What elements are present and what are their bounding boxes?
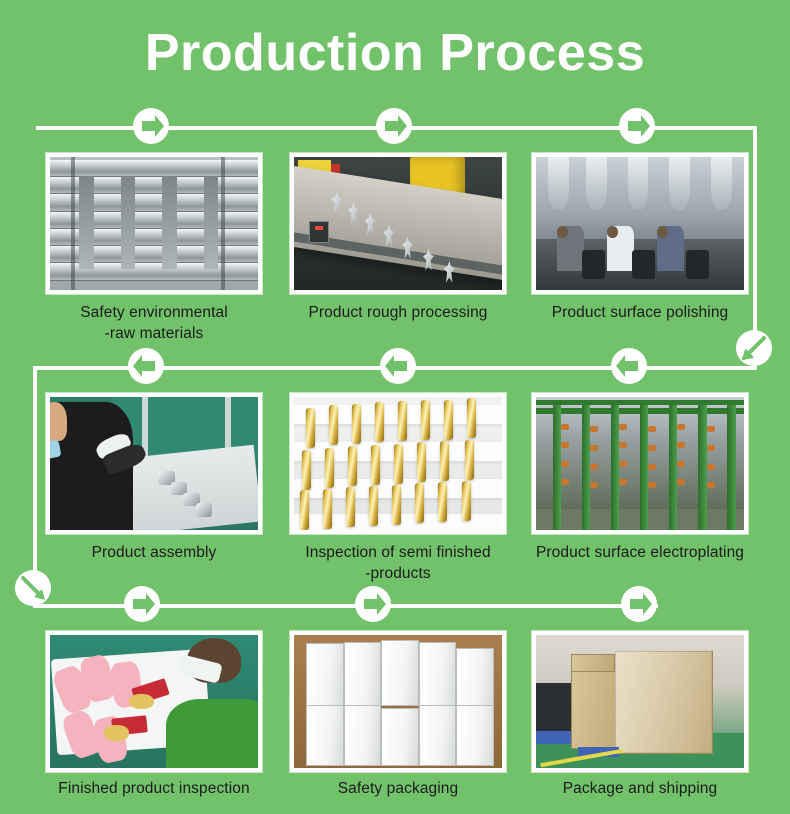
arrow-left-icon: [611, 348, 647, 384]
assembly-worker-photo: [50, 397, 258, 530]
row2-to-row3-vertical-line: [33, 366, 37, 588]
caption-line-1: Inspection of semi finished: [276, 542, 520, 563]
step-card-semi-finished-inspection[interactable]: [290, 393, 506, 534]
step-card-electroplating[interactable]: [532, 393, 748, 534]
step-card-product-assembly[interactable]: [46, 393, 262, 534]
production-process-infographic: Production Process: [0, 0, 790, 814]
step-caption-2: Product rough processing: [290, 302, 506, 323]
aluminium-ingots-photo: [50, 157, 258, 290]
step-caption-5: Inspection of semi finished -products: [276, 542, 520, 584]
caption-line-1: Product surface polishing: [532, 302, 748, 323]
arrow-right-icon: [621, 586, 657, 622]
caption-line-1: Product rough processing: [290, 302, 506, 323]
conveyor-rough-processing-photo: [294, 157, 502, 290]
step-card-finished-inspection[interactable]: [46, 631, 262, 772]
step-card-rough-processing[interactable]: [290, 153, 506, 294]
caption-line-1: Product assembly: [46, 542, 262, 563]
arrow-right-icon: [133, 108, 169, 144]
arrow-left-icon: [380, 348, 416, 384]
step-caption-1: Safety environmental -raw materials: [46, 302, 262, 344]
step-caption-8: Safety packaging: [290, 778, 506, 799]
arrow-right-icon: [619, 108, 655, 144]
caption-line-1: Finished product inspection: [38, 778, 270, 799]
step-card-surface-polishing[interactable]: [532, 153, 748, 294]
step-card-safety-packaging[interactable]: [290, 631, 506, 772]
arrow-left-icon: [128, 348, 164, 384]
caption-line-2: -products: [276, 563, 520, 584]
white-boxes-carton-photo: [294, 635, 502, 768]
caption-line-1: Package and shipping: [532, 778, 748, 799]
polishing-workshop-photo: [536, 157, 744, 290]
step-caption-3: Product surface polishing: [532, 302, 748, 323]
caption-line-1: Safety environmental: [46, 302, 262, 323]
arrow-right-icon: [355, 586, 391, 622]
arrow-diagonal-down-right-icon: [15, 570, 51, 606]
pallets-shipping-photo: [536, 635, 744, 768]
step-caption-4: Product assembly: [46, 542, 262, 563]
arrow-diagonal-down-left-icon: [736, 330, 772, 366]
caption-line-2: -raw materials: [46, 323, 262, 344]
step-caption-7: Finished product inspection: [38, 778, 270, 799]
gold-handles-inspection-photo: [294, 397, 502, 530]
caption-line-1: Product surface electroplating: [518, 542, 762, 563]
row1-to-row2-vertical-line: [753, 126, 757, 348]
arrow-right-icon: [376, 108, 412, 144]
page-title: Production Process: [0, 22, 790, 84]
arrow-right-icon: [124, 586, 160, 622]
electroplating-line-photo: [536, 397, 744, 530]
step-caption-6: Product surface electroplating: [518, 542, 762, 563]
step-card-package-shipping[interactable]: [532, 631, 748, 772]
step-caption-9: Package and shipping: [532, 778, 748, 799]
step-card-aluminium-ingots[interactable]: [46, 153, 262, 294]
caption-line-1: Safety packaging: [290, 778, 506, 799]
final-inspection-photo: [50, 635, 258, 768]
